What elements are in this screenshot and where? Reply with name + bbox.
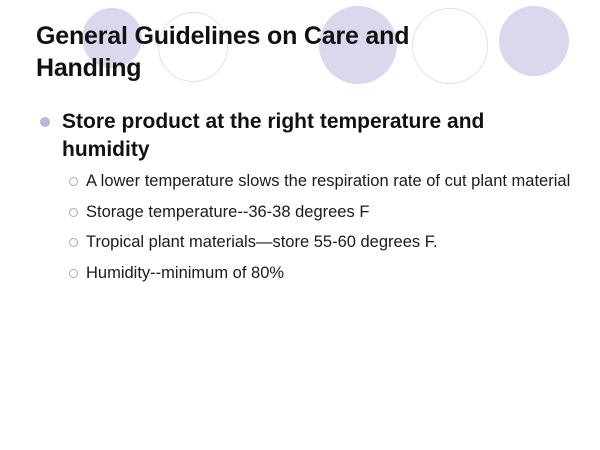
hollow-circle-bullet-icon — [69, 238, 78, 247]
bullet-level2-text: A lower temperature slows the respiratio… — [86, 172, 570, 190]
bullet-level1-text: Store product at the right temperature a… — [62, 110, 484, 161]
slide-canvas: General Guidelines on Care and Handling … — [0, 0, 600, 450]
bullet-level1: Store product at the right temperature a… — [36, 108, 576, 163]
deco-circle-5-icon — [499, 6, 569, 76]
bullet-level2-text: Humidity--minimum of 80% — [86, 264, 284, 282]
bullet-level2-list: A lower temperature slows the respiratio… — [36, 171, 576, 284]
bullet-level2-item: Storage temperature--36-38 degrees F — [68, 202, 576, 223]
hollow-circle-bullet-icon — [69, 177, 78, 186]
hollow-circle-bullet-icon — [69, 269, 78, 278]
bullet-level2-item: Tropical plant materials—store 55-60 deg… — [68, 232, 576, 253]
slide-body: Store product at the right temperature a… — [36, 108, 576, 293]
bullet-level2-item: Humidity--minimum of 80% — [68, 263, 576, 284]
hollow-circle-bullet-icon — [69, 208, 78, 217]
filled-circle-bullet-icon — [40, 117, 50, 127]
bullet-level2-item: A lower temperature slows the respiratio… — [68, 171, 576, 192]
bullet-level2-text: Storage temperature--36-38 degrees F — [86, 203, 369, 221]
slide-title: General Guidelines on Care and Handling — [36, 20, 506, 84]
bullet-level2-text: Tropical plant materials—store 55-60 deg… — [86, 233, 438, 251]
